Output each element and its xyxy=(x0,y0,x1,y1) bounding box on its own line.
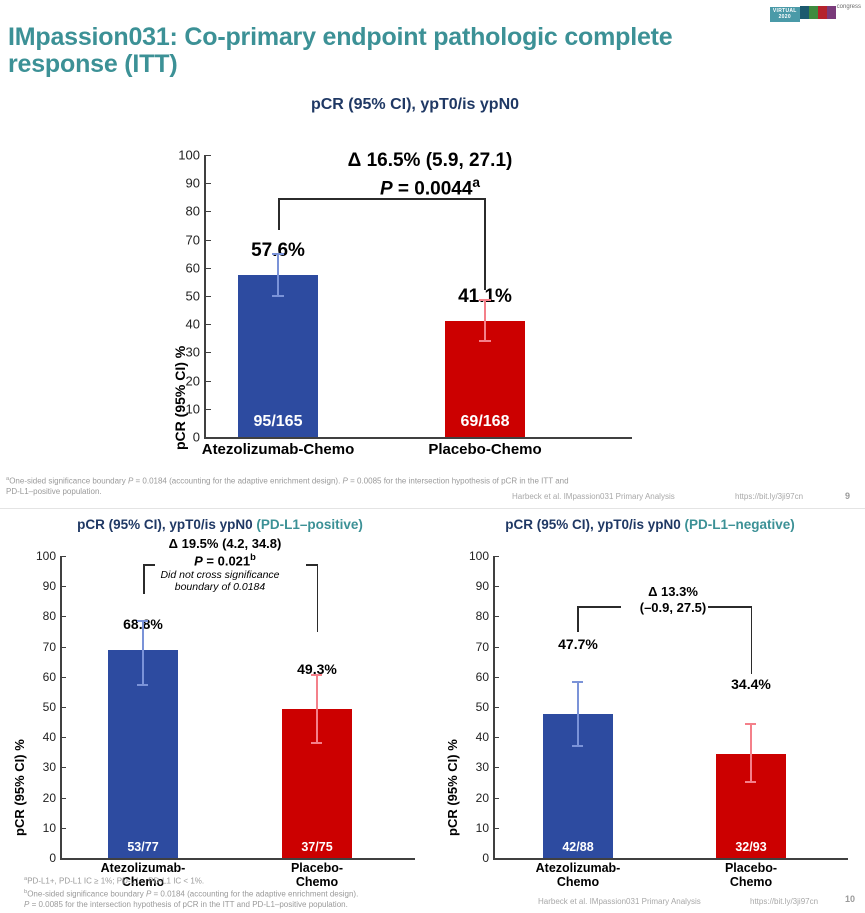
bottom-footnote-line3: = 0.0085 for the intersection hypothesis… xyxy=(29,900,348,909)
left-chart-title: pCR (95% CI), ypT0/is ypN0 (PD-L1–positi… xyxy=(10,517,430,532)
main-chart-title: pCR (95% CI), ypT0/is ypN0 xyxy=(180,96,650,114)
left-ytick-60: 60 xyxy=(10,670,56,684)
left-bracket-right xyxy=(317,564,319,632)
main-ytick-20: 20 xyxy=(150,373,200,388)
left-ytick-30: 30 xyxy=(10,760,56,774)
right-ytick-10: 10 xyxy=(443,821,489,835)
left-significance-note-line2: boundary of 0.0184 xyxy=(175,581,266,593)
main-errorcap-bottom-placebo xyxy=(479,340,491,342)
right-bar-atezolizumab-value: 47.7% xyxy=(533,636,623,652)
right-ytick-90: 90 xyxy=(443,579,489,593)
right-ytick-50: 50 xyxy=(443,700,489,714)
bottom-citation-link[interactable]: https://bit.ly/3ji97cn xyxy=(750,897,818,906)
left-errorcap-top-placebo xyxy=(311,674,322,676)
right-xcat-placebo: Placebo- Chemo xyxy=(686,861,816,889)
right-errorcap-top-atezolizumab xyxy=(572,681,583,683)
right-chart-title: pCR (95% CI), ypT0/is ypN0 (PD-L1–negati… xyxy=(440,517,860,532)
main-ytick-80: 80 xyxy=(150,204,200,219)
left-errorcap-bottom-atezolizumab xyxy=(137,684,148,686)
right-ytick-20: 20 xyxy=(443,791,489,805)
main-bar-placebo-n: 69/168 xyxy=(445,413,525,431)
left-bar-placebo-n: 37/75 xyxy=(282,840,352,854)
left-ytick-40: 40 xyxy=(10,730,56,744)
main-bar-atezolizumab-n: 95/165 xyxy=(238,413,318,431)
right-bar-atezolizumab-n: 42/88 xyxy=(543,840,613,854)
main-errorbar-placebo xyxy=(484,299,486,342)
main-bracket-top xyxy=(278,198,486,200)
main-pvalue-label: P = 0.0044a xyxy=(230,175,630,200)
right-ytick-0: 0 xyxy=(443,851,489,865)
left-ytick-20: 20 xyxy=(10,791,56,805)
left-xcat-placebo-l1: Placebo- xyxy=(291,861,343,875)
left-x-axis xyxy=(60,858,415,860)
bottom-citation-source: Harbeck et al. IMpassion031 Primary Anal… xyxy=(538,897,701,906)
left-chart-pdl1-positive: Δ 19.5% (4.2, 34.8) P = 0.021b Did not c… xyxy=(0,536,432,896)
slide-title: IMpassion031: Co-primary endpoint pathol… xyxy=(8,24,708,78)
section-divider xyxy=(0,508,865,509)
left-delta-label: Δ 19.5% (4.2, 34.8) xyxy=(60,536,390,551)
right-errorbar-atezolizumab xyxy=(577,681,579,746)
right-chart-title-main: pCR (95% CI), ypT0/is ypN0 xyxy=(505,517,684,532)
main-ytick-90: 90 xyxy=(150,176,200,191)
main-ytick-30: 30 xyxy=(150,345,200,360)
bottom-footnote-line1: PD-L1+, PD-L1 IC ≥ 1%; PD-L1–, PD-L1 IC … xyxy=(27,877,204,886)
right-bracket-left-arm xyxy=(577,606,621,608)
left-pvalue-p: P xyxy=(194,553,203,568)
right-errorbar-placebo xyxy=(750,723,752,783)
right-delta-ci-label: (–0.9, 27.5) xyxy=(543,600,803,615)
bottom-page-number: 10 xyxy=(845,894,855,904)
left-pvalue-superscript: b xyxy=(250,552,256,562)
left-chart-title-main: pCR (95% CI), ypT0/is ypN0 xyxy=(77,517,256,532)
right-chart-title-sub: (PD-L1–negative) xyxy=(685,517,795,532)
main-footnote-text-3: = 0.0085 for the intersection hypothesis… xyxy=(348,477,569,486)
left-pvalue-label: P = 0.021b xyxy=(60,552,390,568)
right-errorcap-bottom-atezolizumab xyxy=(572,745,583,747)
left-bar-atezolizumab-n: 53/77 xyxy=(108,840,178,854)
left-ytick-50: 50 xyxy=(10,700,56,714)
main-pvalue-superscript: a xyxy=(472,175,480,190)
left-y-axis xyxy=(60,556,62,860)
left-ytick-70: 70 xyxy=(10,640,56,654)
main-ytick-40: 40 xyxy=(150,317,200,332)
right-bracket-right-arm xyxy=(708,606,752,608)
main-ytick-100: 100 xyxy=(150,148,200,163)
main-bracket-left xyxy=(278,198,280,230)
main-ytick-50: 50 xyxy=(150,289,200,304)
left-ytick-100: 100 xyxy=(10,549,56,563)
main-xcat-atezolizumab: Atezolizumab-Chemo xyxy=(198,441,358,458)
right-chart-pdl1-negative: Δ 13.3% (–0.9, 27.5) pCR (95% CI) % 100 … xyxy=(433,536,865,896)
main-x-axis xyxy=(204,437,632,439)
left-ytick-10: 10 xyxy=(10,821,56,835)
main-pvalue-p: P xyxy=(380,178,393,199)
left-pvalue-value: = 0.021 xyxy=(203,553,250,568)
esmo-block-4 xyxy=(827,6,836,19)
esmo-virtual-badge: VIRTUAL 2020 xyxy=(770,7,800,22)
right-xcat-placebo-l1: Placebo- xyxy=(725,861,777,875)
left-errorbar-placebo xyxy=(316,674,318,744)
main-errorcap-top-placebo xyxy=(479,299,491,301)
right-bar-placebo-n: 32/93 xyxy=(716,840,786,854)
left-ytick-0: 0 xyxy=(10,851,56,865)
main-pvalue-value: = 0.0044 xyxy=(393,178,473,199)
main-ytick-10: 10 xyxy=(150,401,200,416)
main-ytick-60: 60 xyxy=(150,260,200,275)
right-ytick-60: 60 xyxy=(443,670,489,684)
esmo-wordmark xyxy=(800,6,836,19)
main-bar-atezolizumab[interactable]: 95/165 xyxy=(238,275,318,437)
esmo-congress-label: congress xyxy=(837,4,861,10)
right-ytick-100: 100 xyxy=(443,549,489,563)
main-bracket-right xyxy=(484,198,486,290)
left-xcat-atezolizumab-l1: Atezolizumab- xyxy=(101,861,186,875)
right-x-axis xyxy=(493,858,848,860)
left-errorcap-top-atezolizumab xyxy=(137,620,148,622)
main-y-axis xyxy=(204,155,206,439)
left-ytick-80: 80 xyxy=(10,609,56,623)
right-errorcap-bottom-placebo xyxy=(745,781,756,783)
main-chart-itt: Δ 16.5% (5.9, 27.1) P = 0.0044a pCR (95%… xyxy=(0,120,865,460)
left-ytick-90: 90 xyxy=(10,579,56,593)
right-delta-label: Δ 13.3% xyxy=(543,584,803,599)
esmo-block-2 xyxy=(809,6,818,19)
left-significance-note-line1: Did not cross significance xyxy=(160,569,279,581)
main-errorcap-top-atezolizumab xyxy=(272,253,284,255)
right-bar-placebo-value: 34.4% xyxy=(706,676,796,692)
esmo-block-3 xyxy=(818,6,827,19)
main-ytick-0: 0 xyxy=(150,430,200,445)
esmo-block-1 xyxy=(800,6,809,19)
left-errorbar-atezolizumab xyxy=(142,620,144,686)
bottom-footnote-line2a: One-sided significance boundary xyxy=(27,890,146,899)
main-citation-link[interactable]: https://bit.ly/3ji97cn xyxy=(735,492,803,501)
main-citation-source: Harbeck et al. IMpassion031 Primary Anal… xyxy=(512,492,675,501)
main-xcat-placebo: Placebo-Chemo xyxy=(405,441,565,458)
right-xcat-placebo-l2: Chemo xyxy=(730,875,772,889)
right-y-axis xyxy=(493,556,495,860)
right-bracket-right xyxy=(751,606,753,674)
right-xcat-atezolizumab-l1: Atezolizumab- xyxy=(536,861,621,875)
right-ytick-40: 40 xyxy=(443,730,489,744)
right-errorcap-top-placebo xyxy=(745,723,756,725)
main-errorbar-atezolizumab xyxy=(277,253,279,297)
right-ytick-30: 30 xyxy=(443,760,489,774)
bottom-footnote-line2b: = 0.0184 (accounting for the adaptive en… xyxy=(151,890,358,899)
main-footnote-text-1: One-sided significance boundary xyxy=(9,477,128,486)
left-significance-note: Did not cross significance boundary of 0… xyxy=(55,569,385,593)
main-ytick-70: 70 xyxy=(150,232,200,247)
right-ytick-80: 80 xyxy=(443,609,489,623)
left-bracket-left-arm xyxy=(143,564,155,566)
main-errorcap-bottom-atezolizumab xyxy=(272,295,284,297)
right-bracket-left xyxy=(577,606,579,632)
main-page-number: 9 xyxy=(845,491,850,501)
main-footnote-line2: PD-L1–positive population. xyxy=(6,487,102,496)
main-delta-label: Δ 16.5% (5.9, 27.1) xyxy=(230,150,630,172)
esmo-congress-logo: VIRTUAL 2020 congress xyxy=(770,2,861,22)
left-bracket-left xyxy=(143,564,145,594)
left-errorcap-bottom-placebo xyxy=(311,742,322,744)
right-ytick-70: 70 xyxy=(443,640,489,654)
main-footnote-text-2: = 0.0184 (accounting for the adaptive en… xyxy=(133,477,342,486)
left-chart-title-sub: (PD-L1–positive) xyxy=(256,517,363,532)
esmo-virtual-line2: 2020 xyxy=(773,15,797,21)
